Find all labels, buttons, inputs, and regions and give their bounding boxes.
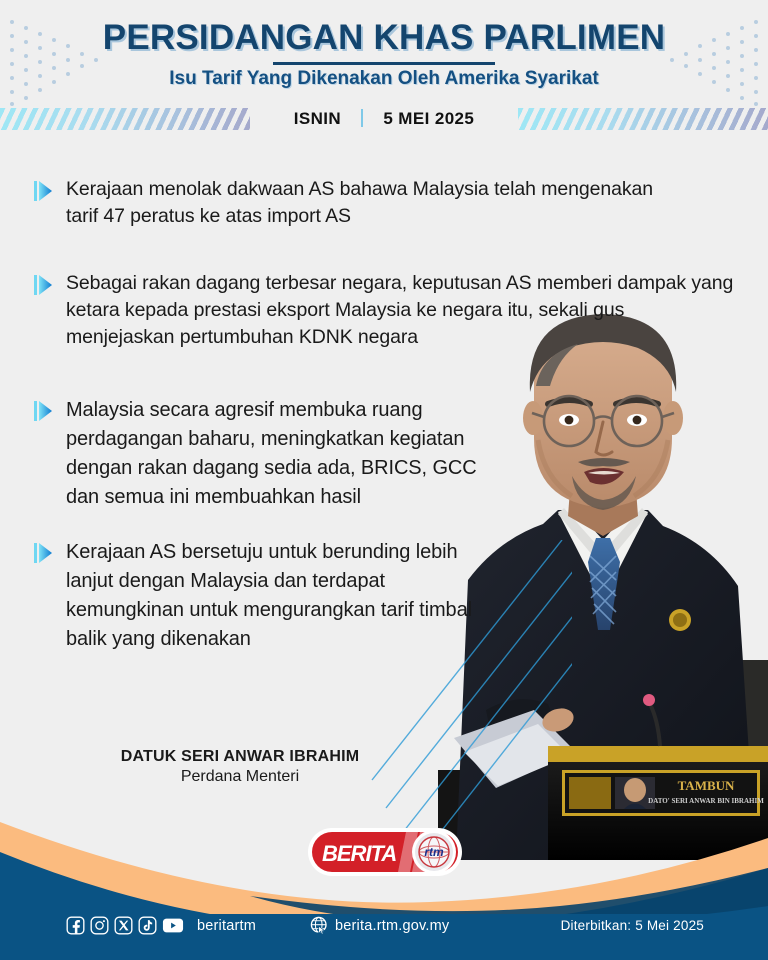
- speaker-role: Perdana Menteri: [50, 768, 430, 786]
- bullet-text-3: Malaysia secara agresif membuka ruang pe…: [66, 396, 514, 512]
- speaker-credit: DATUK SERI ANWAR IBRAHIM Perdana Menteri: [50, 748, 430, 786]
- social-links[interactable]: beritartm: [66, 916, 256, 935]
- tiktok-icon[interactable]: [138, 916, 157, 935]
- bullet-item-4: Kerajaan AS bersetuju untuk berunding le…: [34, 538, 494, 654]
- arrow-bullet-icon: [34, 274, 52, 296]
- logo-berita-text: BERITA: [322, 841, 396, 866]
- bullet-list: Kerajaan menolak dakwaan AS bahawa Malay…: [0, 148, 768, 848]
- instagram-icon[interactable]: [90, 916, 109, 935]
- bullet-text-2: Sebagai rakan dagang terbesar negara, ke…: [66, 270, 734, 351]
- berita-rtm-logo: BERITA rtm: [306, 824, 464, 880]
- header-section: PERSIDANGAN KHAS PARLIMEN Isu Tarif Yang…: [0, 0, 768, 145]
- bullet-item-2: Sebagai rakan dagang terbesar negara, ke…: [34, 270, 734, 351]
- poster-title: PERSIDANGAN KHAS PARLIMEN: [0, 18, 768, 58]
- bullet-text-4: Kerajaan AS bersetuju untuk berunding le…: [66, 538, 494, 654]
- website-link[interactable]: berita.rtm.gov.my: [310, 916, 449, 935]
- infographic-poster: PERSIDANGAN KHAS PARLIMEN Isu Tarif Yang…: [0, 0, 768, 960]
- globe-icon: [310, 916, 329, 935]
- logo-rtm-text: rtm: [424, 845, 444, 859]
- arrow-bullet-icon: [34, 542, 52, 564]
- poster-subtitle: Isu Tarif Yang Dikenakan Oleh Amerika Sy…: [0, 68, 768, 90]
- published-date: Diterbitkan: 5 Mei 2025: [561, 918, 704, 933]
- bullet-item-3: Malaysia secara agresif membuka ruang pe…: [34, 396, 514, 512]
- arrow-bullet-icon: [34, 180, 52, 202]
- speaker-name: DATUK SERI ANWAR IBRAHIM: [50, 748, 430, 766]
- date-label: 5 MEI 2025: [383, 109, 474, 128]
- footer-info-row: beritartm berita.rtm.gov.my Diterbitkan:…: [0, 916, 768, 942]
- day-label: ISNIN: [294, 109, 341, 128]
- social-handle: beritartm: [197, 918, 256, 934]
- date-bar: ISNIN 5 MEI 2025: [0, 106, 768, 132]
- facebook-icon[interactable]: [66, 916, 85, 935]
- bullet-item-1: Kerajaan menolak dakwaan AS bahawa Malay…: [34, 176, 674, 230]
- footer-section: BERITA rtm: [0, 810, 768, 960]
- x-twitter-icon[interactable]: [114, 916, 133, 935]
- date-separator: [361, 109, 363, 127]
- bullet-text-1: Kerajaan menolak dakwaan AS bahawa Malay…: [66, 176, 674, 230]
- youtube-icon[interactable]: [162, 916, 184, 935]
- arrow-bullet-icon: [34, 400, 52, 422]
- website-url: berita.rtm.gov.my: [335, 918, 449, 934]
- title-underline: [273, 62, 495, 65]
